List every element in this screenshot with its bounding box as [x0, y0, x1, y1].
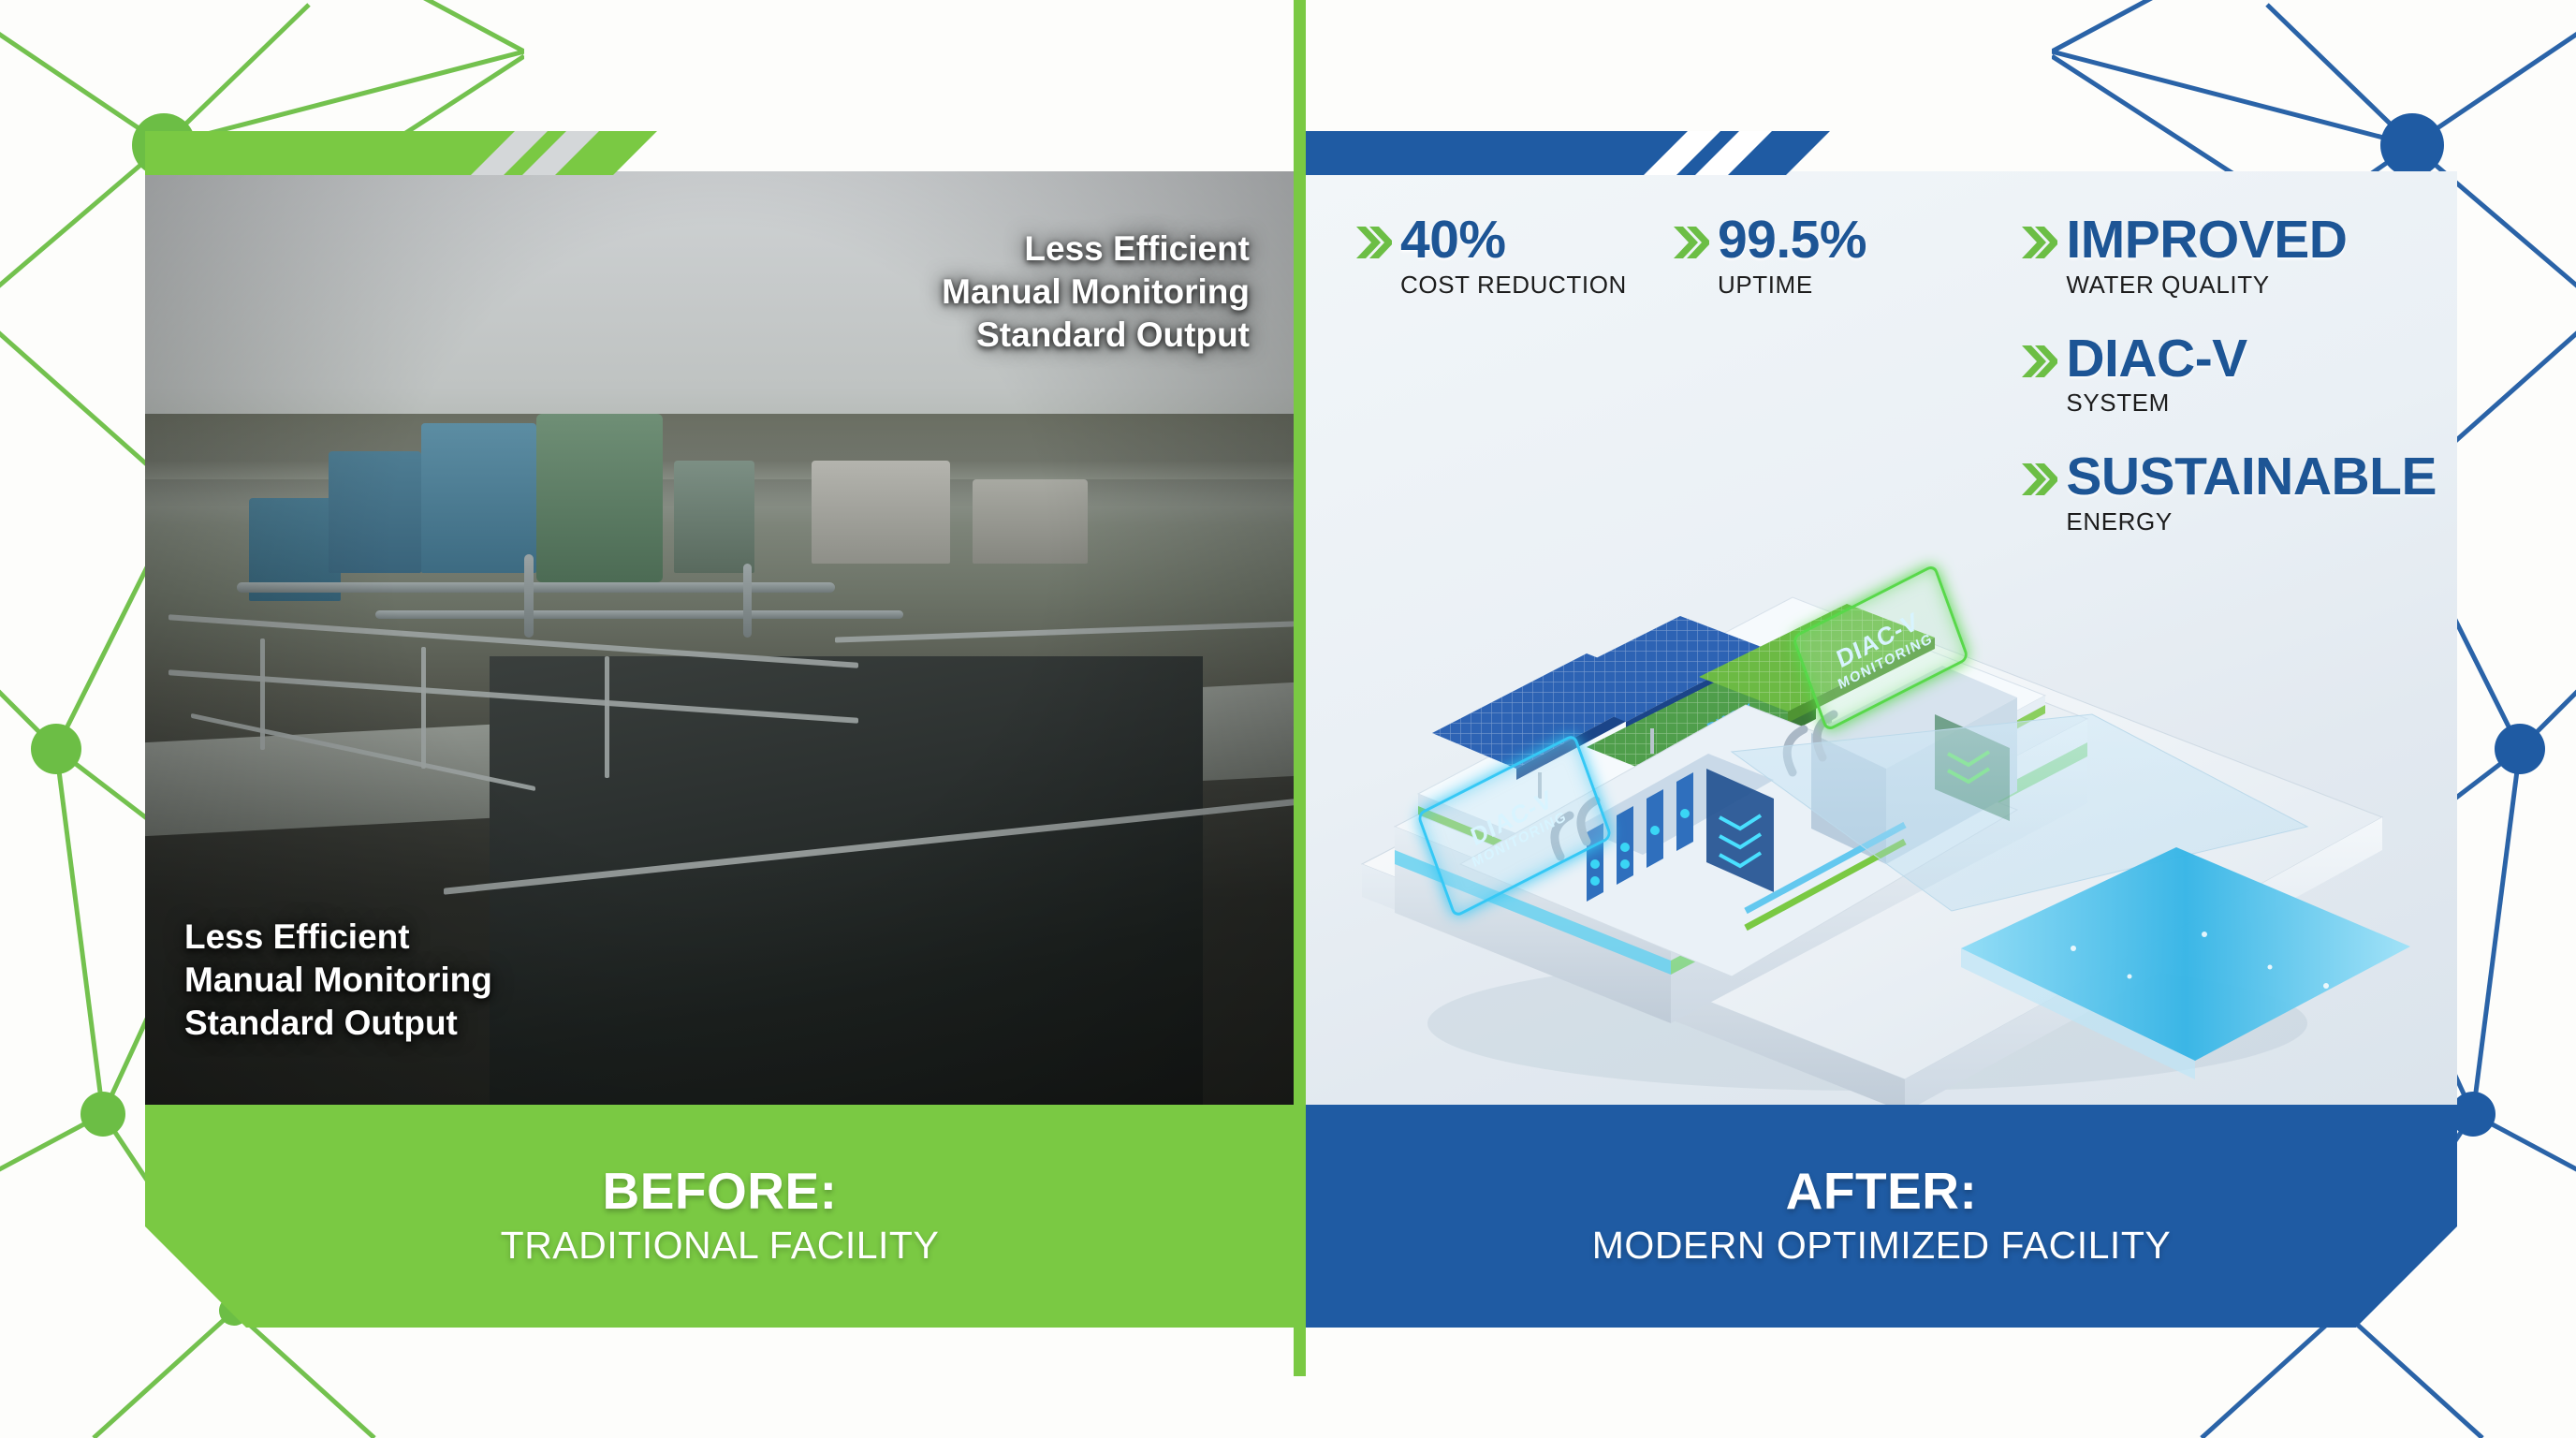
double-chevron-icon [1354, 223, 1392, 262]
before-caption-bottom: Less Efficient Manual Monitoring Standar… [184, 916, 492, 1045]
stat-value: 99.5% [1718, 214, 1866, 266]
stat-water-quality: IMPROVED WATER QUALITY [2020, 214, 2347, 300]
before-banner: BEFORE: TRADITIONAL FACILITY [145, 1105, 1295, 1328]
stat-sustainable-energy: SUSTAINABLE ENERGY [2020, 451, 2437, 536]
double-chevron-icon [2020, 460, 2057, 499]
caption-line-1: Less Efficient [942, 227, 1250, 271]
stat-value: DIAC-V [2066, 333, 2247, 385]
stat-value: 40% [1400, 214, 1627, 266]
stat-label: SYSTEM [2066, 389, 2247, 418]
stat-label: COST REDUCTION [1400, 271, 1627, 300]
panel-divider [1294, 0, 1306, 1376]
before-caption-top: Less Efficient Manual Monitoring Standar… [942, 227, 1250, 357]
stat-value: SUSTAINABLE [2066, 451, 2437, 503]
caption-line-3: Standard Output [942, 314, 1250, 357]
double-chevron-icon [1672, 223, 1709, 262]
stat-value: IMPROVED [2066, 214, 2347, 266]
caption-line-1: Less Efficient [184, 916, 492, 959]
before-banner-subtitle: TRADITIONAL FACILITY [501, 1224, 940, 1268]
after-banner-title: AFTER: [1786, 1165, 1978, 1219]
before-photo-frame: Less Efficient Manual Monitoring Standar… [145, 171, 1295, 1105]
double-chevron-icon [2020, 223, 2057, 262]
after-render-frame: DIAC-V [1306, 171, 2457, 1105]
before-banner-title: BEFORE: [603, 1165, 838, 1219]
caption-line-2: Manual Monitoring [184, 959, 492, 1002]
stat-diac-v-system: DIAC-V SYSTEM [2020, 333, 2247, 418]
stat-label: WATER QUALITY [2066, 271, 2347, 300]
caption-line-2: Manual Monitoring [942, 271, 1250, 314]
after-accent-bar [1306, 131, 1830, 175]
after-banner-subtitle: MODERN OPTIMIZED FACILITY [1592, 1224, 2171, 1268]
modern-facility-render: DIAC-V [1306, 171, 2457, 1105]
after-banner: AFTER: MODERN OPTIMIZED FACILITY [1306, 1105, 2457, 1328]
double-chevron-icon [2020, 342, 2057, 381]
stats-right-column: IMPROVED WATER QUALITY DIAC-V SYSTEM [2020, 214, 2437, 536]
stat-label: UPTIME [1718, 271, 1866, 300]
stat-uptime: 99.5% UPTIME [1672, 214, 1866, 300]
stat-label: ENERGY [2066, 507, 2437, 536]
stats-top-row: 40% COST REDUCTION 99.5% UPTIME [1354, 214, 1866, 300]
before-accent-bar [145, 131, 657, 175]
caption-line-3: Standard Output [184, 1002, 492, 1045]
stat-cost-reduction: 40% COST REDUCTION [1354, 214, 1627, 300]
